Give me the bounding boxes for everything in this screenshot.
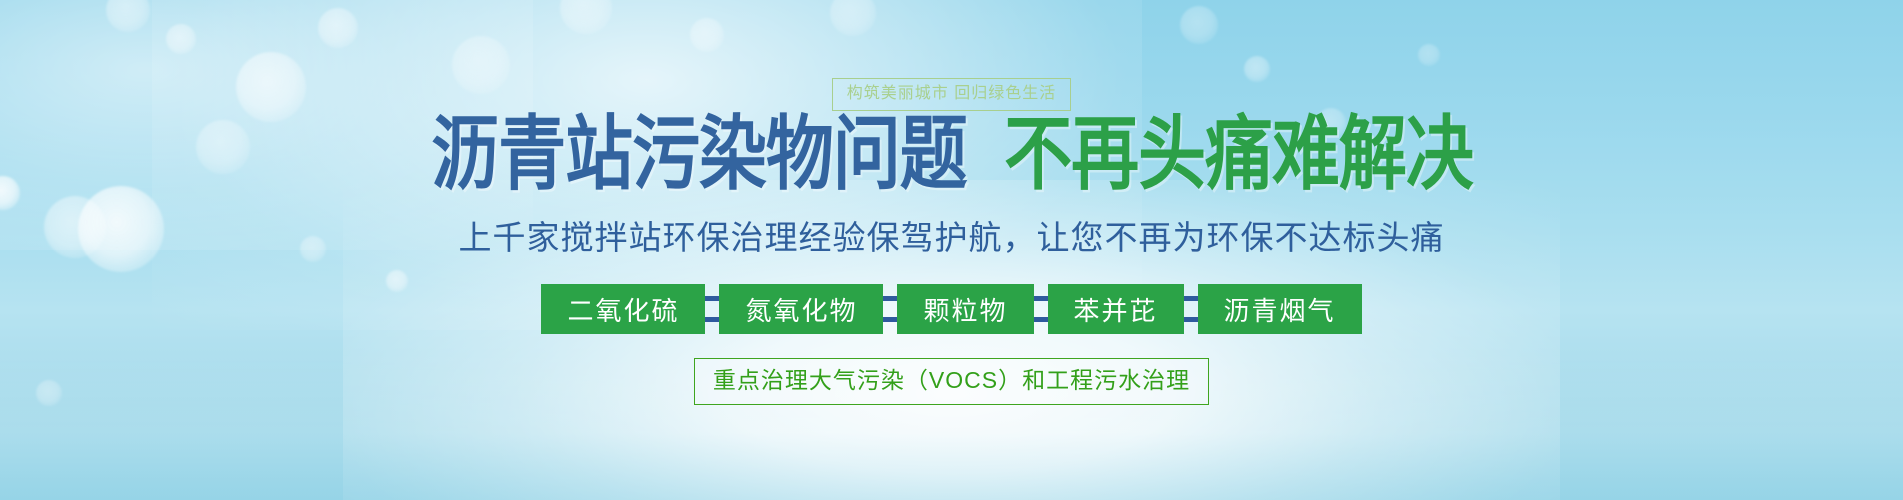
separator-dash-top (1184, 296, 1198, 301)
pollutant-tag-2[interactable]: 颗粒物 (897, 284, 1033, 334)
pollutant-tag-1[interactable]: 氮氧化物 (719, 284, 883, 334)
tag-separator-icon (883, 284, 897, 334)
tag-separator-icon (705, 284, 719, 334)
separator-dash-top (883, 296, 897, 301)
subheadline: 上千家搅拌站环保治理经验保驾护航，让您不再为环保不达标头痛 (459, 221, 1445, 254)
pollutant-tag-3[interactable]: 苯并芘 (1048, 284, 1184, 334)
separator-dash-bottom (1184, 317, 1198, 322)
tag-separator-icon (1034, 284, 1048, 334)
separator-dash-top (1034, 296, 1048, 301)
headline-primary-text: 沥青站污染物问题 (431, 114, 966, 195)
separator-dash-bottom (1034, 317, 1048, 322)
footnote-badge: 重点治理大气污染（VOCS）和工程污水治理 (694, 358, 1209, 405)
pollutant-tag-0[interactable]: 二氧化硫 (541, 284, 705, 334)
page-title: 沥青站污染物问题 不再头痛难解决 (423, 125, 1480, 195)
separator-dash-top (705, 296, 719, 301)
separator-dash-bottom (705, 317, 719, 322)
separator-dash-bottom (883, 317, 897, 322)
headline-accent-text: 不再头痛难解决 (1004, 114, 1473, 195)
pollutant-tag-4[interactable]: 沥青烟气 (1198, 284, 1362, 334)
hero-banner: 构筑美丽城市 回归绿色生活 沥青站污染物问题 不再头痛难解决 上千家搅拌站环保治… (0, 0, 1903, 500)
tag-separator-icon (1184, 284, 1198, 334)
banner-content: 构筑美丽城市 回归绿色生活 沥青站污染物问题 不再头痛难解决 上千家搅拌站环保治… (0, 0, 1903, 500)
pollutant-tag-row: 二氧化硫 氮氧化物 颗粒物 苯并芘 沥青烟气 (541, 284, 1361, 334)
